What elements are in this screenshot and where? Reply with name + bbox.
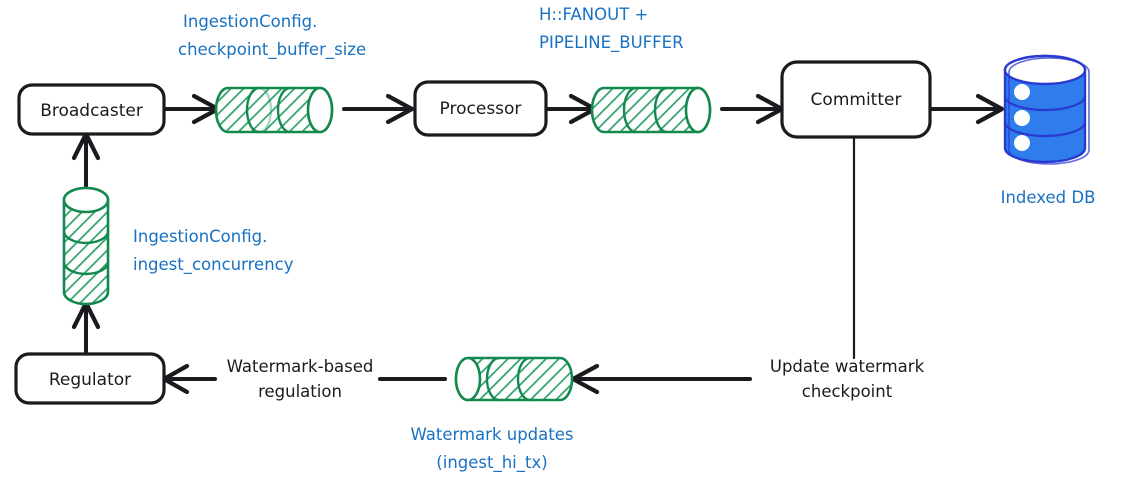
edge-processor-to-pipeline-buffer xyxy=(546,96,595,122)
broadcaster-label: Broadcaster xyxy=(40,101,143,121)
regulator-label: Regulator xyxy=(49,370,131,390)
edge-label-watermark-based-regulation: Watermark-based regulation xyxy=(227,357,374,401)
node-processor[interactable]: Processor xyxy=(415,82,546,135)
buffer-watermark xyxy=(456,358,572,400)
annotation-ingest-concurrency: IngestionConfig. ingest_concurrency xyxy=(133,227,294,275)
buffer-watermark-cap xyxy=(456,358,480,400)
annotation-watermark-updates: Watermark updates (ingest_hi_tx) xyxy=(411,425,574,473)
buffer-concurrency-cap xyxy=(64,188,108,212)
indexed-db-label: Indexed DB xyxy=(1001,188,1096,207)
edge-label-regulation-line1: Watermark-based xyxy=(227,357,374,376)
edge-broadcaster-to-checkpoint-buffer xyxy=(164,96,218,122)
edge-pipeline-buffer-to-committer xyxy=(722,96,782,122)
edge-checkpoint-buffer-to-processor xyxy=(344,96,412,122)
annotation-indexed-db-caption: Indexed DB xyxy=(1001,188,1096,207)
annotation-watermark-line1: Watermark updates xyxy=(411,425,574,444)
annotation-pipeline-fanout: H::FANOUT + PIPELINE_BUFFER xyxy=(539,5,684,53)
edge-label-regulation-line2: regulation xyxy=(258,382,342,401)
edge-concurrency-buffer-to-broadcaster xyxy=(74,134,98,190)
annotation-fanout-line2: PIPELINE_BUFFER xyxy=(539,33,684,53)
annotation-checkpoint-buffer-size: IngestionConfig. checkpoint_buffer_size xyxy=(178,12,366,60)
buffer-checkpoint-cap xyxy=(308,88,332,132)
edge-label-update-line1: Update watermark xyxy=(770,357,925,376)
database-dot-1 xyxy=(1014,84,1030,100)
processor-label: Processor xyxy=(440,99,522,119)
edge-label-update-watermark-checkpoint: Update watermark checkpoint xyxy=(770,357,925,401)
node-committer[interactable]: Committer xyxy=(782,62,930,137)
buffer-pipeline-cap xyxy=(686,88,710,132)
node-indexed-db[interactable] xyxy=(1005,56,1089,164)
edge-label-update-line2: checkpoint xyxy=(802,382,893,401)
committer-label: Committer xyxy=(811,90,902,110)
buffer-checkpoint xyxy=(216,88,332,132)
annotation-concurrency-line2: ingest_concurrency xyxy=(133,255,294,275)
buffer-pipeline xyxy=(592,88,710,132)
annotation-watermark-line2: (ingest_hi_tx) xyxy=(436,453,547,473)
edge-committer-to-watermark-buffer xyxy=(573,137,854,392)
database-dot-3 xyxy=(1014,135,1030,151)
diagram-canvas: Broadcaster Processor Committer Regulato… xyxy=(0,0,1124,479)
annotation-fanout-line1: H::FANOUT + xyxy=(539,5,648,24)
database-dot-2 xyxy=(1014,110,1030,126)
node-regulator[interactable]: Regulator xyxy=(16,354,164,403)
annotation-checkpoint-line1: IngestionConfig. xyxy=(183,12,317,31)
annotation-concurrency-line1: IngestionConfig. xyxy=(133,227,267,246)
buffer-ingest-concurrency xyxy=(64,188,108,304)
edge-regulator-to-concurrency-buffer xyxy=(74,303,98,352)
edge-committer-to-indexed-db xyxy=(930,96,1002,122)
node-broadcaster[interactable]: Broadcaster xyxy=(19,85,164,134)
pipeline-diagram: Broadcaster Processor Committer Regulato… xyxy=(0,0,1124,479)
annotation-checkpoint-line2: checkpoint_buffer_size xyxy=(178,40,366,60)
